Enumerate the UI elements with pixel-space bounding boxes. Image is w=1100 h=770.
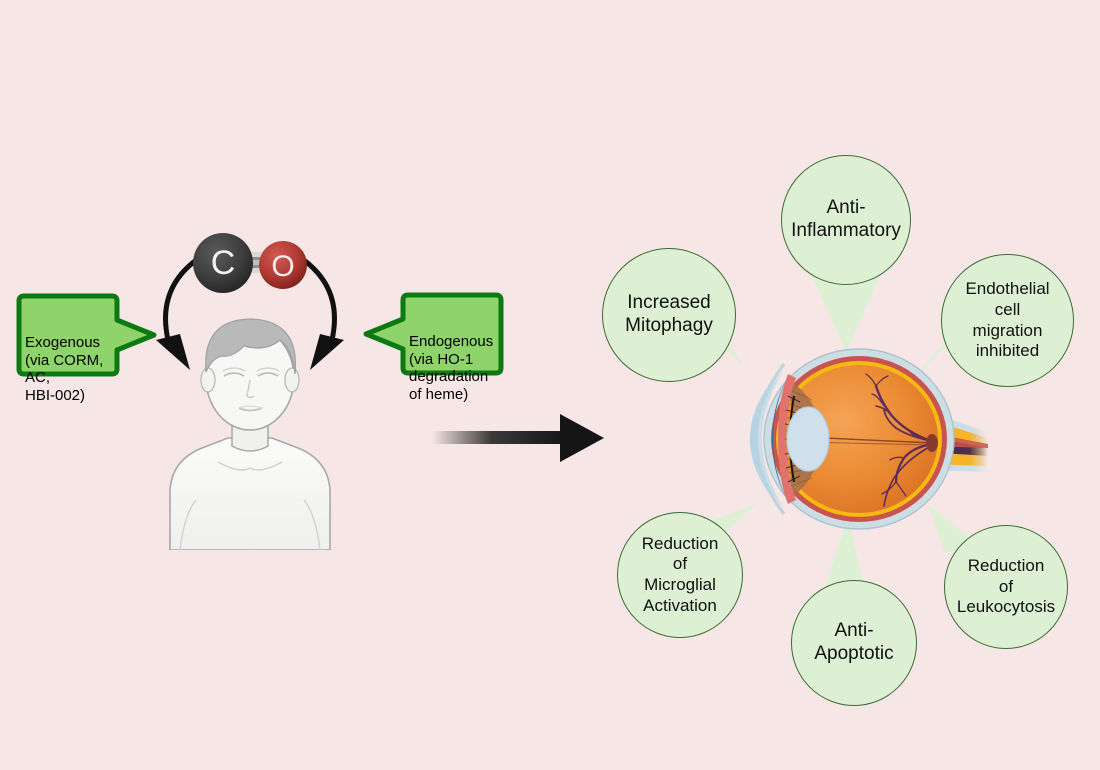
effect-label: Reduction of Microglial Activation <box>642 534 719 616</box>
effect-bubble-anti-inflammatory[interactable]: Anti- Inflammatory <box>781 155 911 285</box>
eye-diagram <box>726 336 992 546</box>
lens <box>787 407 829 471</box>
effect-bubble-anti-apoptotic[interactable]: Anti- Apoptotic <box>791 580 917 706</box>
effect-label: Endothelial cell migration inhibited <box>965 279 1049 361</box>
callout-endogenous[interactable]: Endogenous (via HO-1 degradation of heme… <box>398 291 504 376</box>
effect-bubble-reduction-leukocytosis[interactable]: Reduction of Leukocytosis <box>944 525 1068 649</box>
carbon-atom-label: C <box>211 244 236 282</box>
effect-bubble-endothelial-cell-migration[interactable]: Endothelial cell migration inhibited <box>941 254 1074 387</box>
effect-label: Anti- Inflammatory <box>791 197 901 243</box>
optic-disc <box>926 434 938 452</box>
carbon-monoxide-molecule: C O <box>186 224 314 304</box>
callout-exogenous-label: Exogenous (via CORM, AC, HBI-002) <box>25 334 110 404</box>
effect-label: Reduction of Leukocytosis <box>957 556 1055 618</box>
effect-bubble-increased-mitophagy[interactable]: Increased Mitophagy <box>602 248 736 382</box>
figure-canvas: C O <box>0 0 1100 770</box>
oxygen-atom-label: O <box>271 250 294 283</box>
effect-label: Anti- Apoptotic <box>814 620 893 666</box>
callout-endogenous-label: Endogenous (via HO-1 degradation of heme… <box>409 333 494 403</box>
callout-exogenous[interactable]: Exogenous (via CORM, AC, HBI-002) <box>14 292 120 376</box>
effect-bubble-reduction-microglial[interactable]: Reduction of Microglial Activation <box>617 512 743 638</box>
effect-label: Increased Mitophagy <box>625 292 713 338</box>
